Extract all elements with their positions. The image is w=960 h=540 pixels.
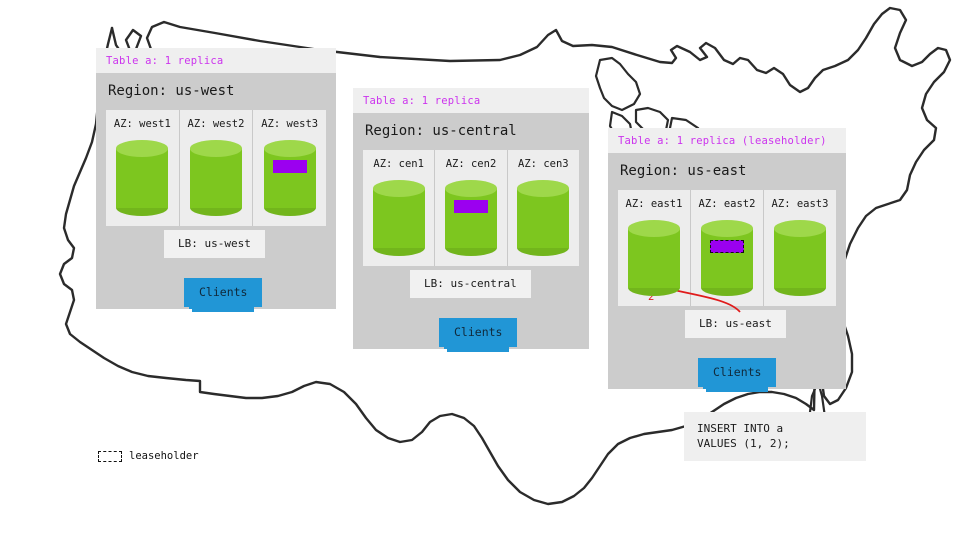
clients-button-us-east[interactable]: Clients xyxy=(698,358,776,387)
az-cell-west3[interactable]: AZ: west3 xyxy=(252,110,326,226)
az-row: AZ: cen1 AZ: cen2 xyxy=(363,150,579,266)
cylinder-body xyxy=(628,228,680,287)
cylinder-body xyxy=(517,188,569,247)
az-row: AZ: west1 AZ: west2 AZ xyxy=(106,110,326,226)
range-replica-block xyxy=(273,160,307,173)
leaseholder-replica-block xyxy=(710,240,744,253)
region-header-strip: Table a: 1 replica xyxy=(353,88,589,113)
cylinder-top xyxy=(190,140,242,157)
az-label: AZ: west1 xyxy=(106,118,179,130)
az-row: AZ: east1 AZ: east2 xyxy=(618,190,836,306)
node-cylinder-east1[interactable] xyxy=(628,220,680,296)
node-cylinder-west3[interactable] xyxy=(264,140,316,216)
node-cylinder-west2[interactable] xyxy=(190,140,242,216)
node-cylinder-cen2[interactable] xyxy=(445,180,497,256)
clients-button-face[interactable]: Clients xyxy=(184,278,262,307)
region-title: Region: us-central xyxy=(363,113,579,150)
cylinder-top xyxy=(264,140,316,157)
cylinder-top xyxy=(774,220,826,237)
az-cell-cen2[interactable]: AZ: cen2 xyxy=(434,150,506,266)
region-header-strip: Table a: 1 replica (leaseholder) xyxy=(608,128,846,153)
az-cell-east1[interactable]: AZ: east1 xyxy=(618,190,690,306)
clients-button-face[interactable]: Clients xyxy=(698,358,776,387)
replica-status-label: Table a: 1 replica (leaseholder) xyxy=(618,135,836,147)
node-cylinder-cen1[interactable] xyxy=(373,180,425,256)
load-balancer-us-east[interactable]: LB: us-east xyxy=(685,310,786,338)
region-title: Region: us-east xyxy=(618,153,836,190)
node-cylinder-east3[interactable] xyxy=(774,220,826,296)
replica-status-label: Table a: 1 replica xyxy=(363,95,579,107)
az-label: AZ: east3 xyxy=(764,198,836,210)
load-balancer-us-central[interactable]: LB: us-central xyxy=(410,270,531,298)
cylinder-top xyxy=(445,180,497,197)
cylinder-top xyxy=(517,180,569,197)
legend-label: leaseholder xyxy=(129,450,199,462)
cylinder-top xyxy=(701,220,753,237)
cylinder-top xyxy=(373,180,425,197)
clients-button-us-west[interactable]: Clients xyxy=(184,278,262,307)
dashed-rectangle-icon xyxy=(98,451,122,462)
az-label: AZ: west3 xyxy=(253,118,326,130)
cylinder-top xyxy=(116,140,168,157)
clients-button-face[interactable]: Clients xyxy=(439,318,517,347)
clients-button-us-central[interactable]: Clients xyxy=(439,318,517,347)
replica-status-label: Table a: 1 replica xyxy=(106,55,326,67)
az-cell-cen1[interactable]: AZ: cen1 xyxy=(363,150,434,266)
az-label: AZ: west2 xyxy=(180,118,253,130)
az-label: AZ: cen2 xyxy=(435,158,506,170)
region-card-us-east: Table a: 1 replica (leaseholder) Region:… xyxy=(608,128,846,389)
diagram-canvas: Table a: 1 replica Region: us-west AZ: w… xyxy=(0,0,960,540)
load-balancer-us-west[interactable]: LB: us-west xyxy=(164,230,265,258)
region-body: Region: us-central AZ: cen1 AZ: cen2 xyxy=(353,113,589,349)
az-label: AZ: east1 xyxy=(618,198,690,210)
region-body: Region: us-west AZ: west1 AZ: west2 xyxy=(96,73,336,309)
az-cell-west1[interactable]: AZ: west1 xyxy=(106,110,179,226)
cylinder-body xyxy=(264,148,316,207)
cylinder-body xyxy=(701,228,753,287)
region-header-strip: Table a: 1 replica xyxy=(96,48,336,73)
cylinder-top xyxy=(628,220,680,237)
region-card-us-west: Table a: 1 replica Region: us-west AZ: w… xyxy=(96,48,336,309)
cylinder-body xyxy=(116,148,168,207)
cylinder-body xyxy=(774,228,826,287)
region-body: Region: us-east AZ: east1 AZ: east2 xyxy=(608,153,846,389)
cylinder-body xyxy=(190,148,242,207)
node-cylinder-east2[interactable] xyxy=(701,220,753,296)
legend: leaseholder xyxy=(98,450,199,462)
az-cell-west2[interactable]: AZ: west2 xyxy=(179,110,253,226)
az-label: AZ: cen1 xyxy=(363,158,434,170)
node-cylinder-west1[interactable] xyxy=(116,140,168,216)
az-label: AZ: east2 xyxy=(691,198,763,210)
az-label: AZ: cen3 xyxy=(508,158,579,170)
az-cell-cen3[interactable]: AZ: cen3 xyxy=(507,150,579,266)
sql-statement-panel: INSERT INTO a VALUES (1, 2); xyxy=(684,412,866,461)
cylinder-body xyxy=(373,188,425,247)
az-cell-east3[interactable]: AZ: east3 xyxy=(763,190,836,306)
cylinder-body xyxy=(445,188,497,247)
region-title: Region: us-west xyxy=(106,73,326,110)
az-cell-east2[interactable]: AZ: east2 xyxy=(690,190,763,306)
region-card-us-central: Table a: 1 replica Region: us-central AZ… xyxy=(353,88,589,349)
range-replica-block xyxy=(454,200,488,213)
node-cylinder-cen3[interactable] xyxy=(517,180,569,256)
